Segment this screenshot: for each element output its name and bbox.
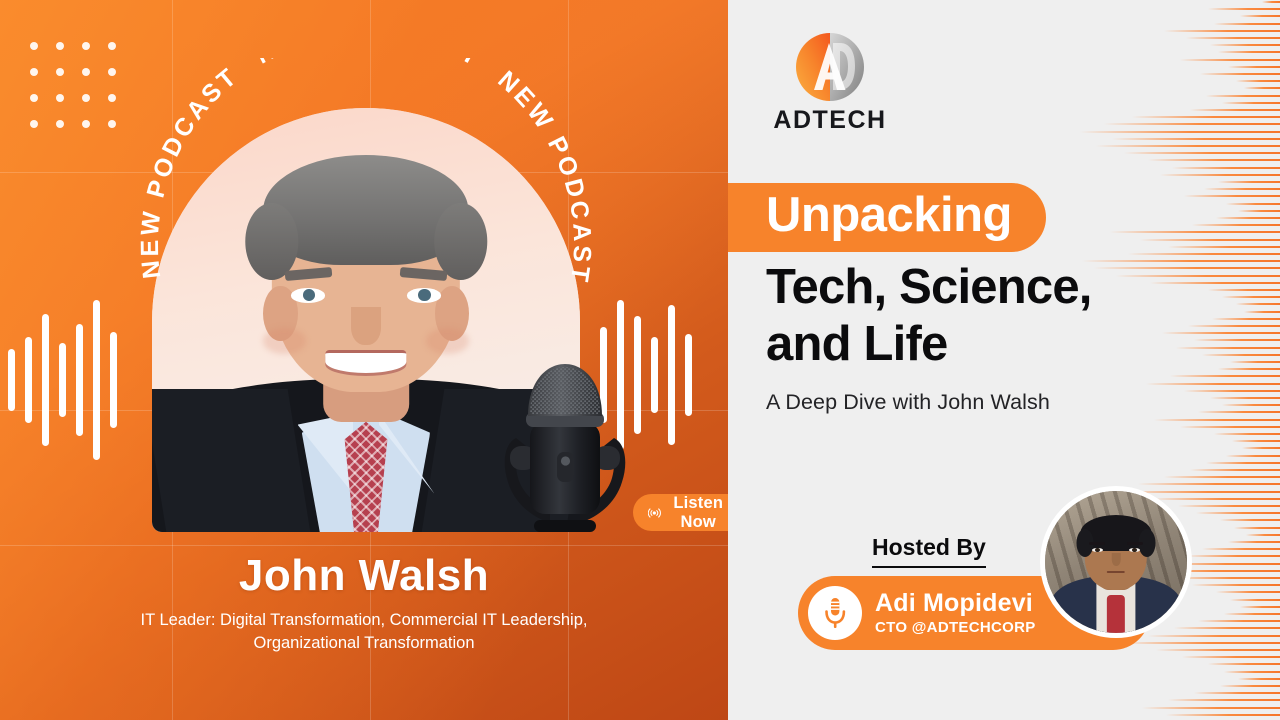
waveform-line — [1212, 318, 1280, 320]
waveform-line — [1202, 354, 1280, 356]
waveform-line — [1132, 116, 1280, 118]
waveform-line — [1184, 195, 1280, 197]
waveform-line — [1240, 606, 1280, 608]
waveform-line — [1262, 1, 1280, 3]
waveform-line — [1206, 95, 1280, 97]
waveform-line — [1218, 51, 1280, 53]
waveform-line — [1190, 469, 1280, 471]
waveform-line — [1186, 555, 1280, 557]
waveform-line — [1224, 671, 1280, 673]
waveform-line — [1160, 174, 1280, 176]
host-role: CTO @ADTECHCORP — [875, 619, 1036, 636]
waveform-line — [1148, 635, 1280, 637]
studio-microphone-icon — [500, 360, 630, 532]
waveform-line — [1234, 527, 1280, 529]
waveform-line — [1220, 685, 1280, 687]
waveform-line — [1238, 678, 1280, 680]
adtech-logo[interactable]: ADTECH — [760, 30, 900, 135]
title-highlight-pill: Unpacking — [728, 183, 1046, 252]
guest-role-line-2: Organizational Transformation — [253, 634, 474, 652]
waveform-line — [1206, 462, 1280, 464]
waveform-line — [1164, 476, 1280, 478]
waveform-line — [1244, 87, 1280, 89]
waveform-line — [1218, 368, 1280, 370]
podcast-title-block: Unpacking Tech, Science, and Life A Deep… — [728, 183, 1198, 415]
waveform-line — [1216, 217, 1280, 219]
microphone-icon — [822, 596, 848, 630]
waveform-line — [1226, 203, 1280, 205]
waveform-line — [1208, 289, 1280, 291]
waveform-line — [1246, 534, 1280, 536]
waveform-line — [1204, 188, 1280, 190]
waveform-line — [1122, 642, 1280, 644]
waveform-line — [1196, 512, 1280, 514]
guest-role: IT Leader: Digital Transformation, Comme… — [0, 609, 728, 656]
waveform-line — [1142, 707, 1280, 709]
arc-text-2: NEW PODCAST — [251, 58, 486, 73]
waveform-line — [1180, 59, 1280, 61]
waveform-line — [1104, 123, 1280, 125]
waveform-line — [1216, 591, 1280, 593]
listen-now-button[interactable]: Listen Now — [633, 494, 728, 531]
broadcast-signal-icon — [648, 504, 661, 522]
waveform-line — [1164, 30, 1280, 32]
waveform-line — [1222, 102, 1280, 104]
waveform-line — [1240, 15, 1280, 17]
waveform-line — [1172, 167, 1280, 169]
waveform-line — [1190, 109, 1280, 111]
waveform-line — [1184, 390, 1280, 392]
waveform-line — [1236, 80, 1280, 82]
waveform-line — [1224, 613, 1280, 615]
waveform-line — [1236, 303, 1280, 305]
waveform-line — [1148, 159, 1280, 161]
waveform-line — [1238, 210, 1280, 212]
waveform-line — [1182, 656, 1280, 658]
waveform-line — [1180, 426, 1280, 428]
dot-grid-decoration — [30, 42, 134, 146]
listen-now-label: Listen Now — [670, 494, 727, 532]
host-mic-badge — [808, 586, 862, 640]
waveform-bars-left — [8, 300, 117, 460]
waveform-line — [1210, 44, 1280, 46]
waveform-line — [1112, 138, 1280, 140]
waveform-line — [1174, 627, 1280, 629]
adtech-wordmark: ADTECH — [760, 106, 900, 135]
waveform-line — [1178, 505, 1280, 507]
waveform-line — [1188, 325, 1280, 327]
podcast-promo-graphic: NEW PODCAST NEW PODCAST NEW PODCAST — [0, 0, 1280, 720]
left-hero-panel: NEW PODCAST NEW PODCAST NEW PODCAST — [0, 0, 728, 720]
waveform-line — [1208, 8, 1280, 10]
waveform-line — [1124, 152, 1280, 154]
waveform-line — [1222, 296, 1280, 298]
waveform-line — [1226, 455, 1280, 457]
waveform-line — [1138, 483, 1280, 485]
host-text-block: Adi Mopidevi CTO @ADTECHCORP — [875, 590, 1036, 636]
waveform-line — [1214, 433, 1280, 435]
svg-text:NEW PODCAST: NEW PODCAST — [251, 58, 486, 73]
guest-name-block: John Walsh IT Leader: Digital Transforma… — [0, 552, 728, 655]
waveform-line — [1210, 397, 1280, 399]
waveform-line — [1232, 440, 1280, 442]
waveform-line — [1080, 131, 1280, 133]
waveform-line — [1222, 404, 1280, 406]
podcast-subtitle: A Deep Dive with John Walsh — [728, 390, 1198, 415]
title-line-2: Tech, Science, — [728, 259, 1198, 316]
waveform-line — [1096, 145, 1280, 147]
waveform-line — [1192, 584, 1280, 586]
waveform-line — [1194, 339, 1280, 341]
waveform-line — [1198, 411, 1280, 413]
waveform-line — [1214, 23, 1280, 25]
waveform-line — [1194, 692, 1280, 694]
waveform-line — [1168, 699, 1280, 701]
waveform-line — [1202, 548, 1280, 550]
adtech-circle-ad-monogram-icon — [793, 30, 867, 104]
waveform-line — [1230, 599, 1280, 601]
waveform-line — [1166, 714, 1280, 716]
waveform-line — [1228, 66, 1280, 68]
title-line-3: and Life — [728, 316, 1198, 373]
waveform-line — [1230, 361, 1280, 363]
waveform-line — [1198, 620, 1280, 622]
waveform-line — [1218, 181, 1280, 183]
waveform-line — [1156, 649, 1280, 651]
guest-role-line-1: IT Leader: Digital Transformation, Comme… — [141, 611, 588, 629]
waveform-line — [1154, 419, 1280, 421]
guest-name: John Walsh — [0, 552, 728, 600]
waveform-line — [1220, 519, 1280, 521]
waveform-line — [1200, 73, 1280, 75]
waveform-line — [1186, 37, 1280, 39]
host-name: Adi Mopidevi — [875, 590, 1036, 617]
waveform-line — [1228, 541, 1280, 543]
waveform-line — [1242, 447, 1280, 449]
hosted-by-label: Hosted By — [872, 534, 986, 568]
waveform-line — [1244, 311, 1280, 313]
waveform-line — [1192, 224, 1280, 226]
waveform-line — [1208, 663, 1280, 665]
host-avatar — [1040, 486, 1192, 638]
